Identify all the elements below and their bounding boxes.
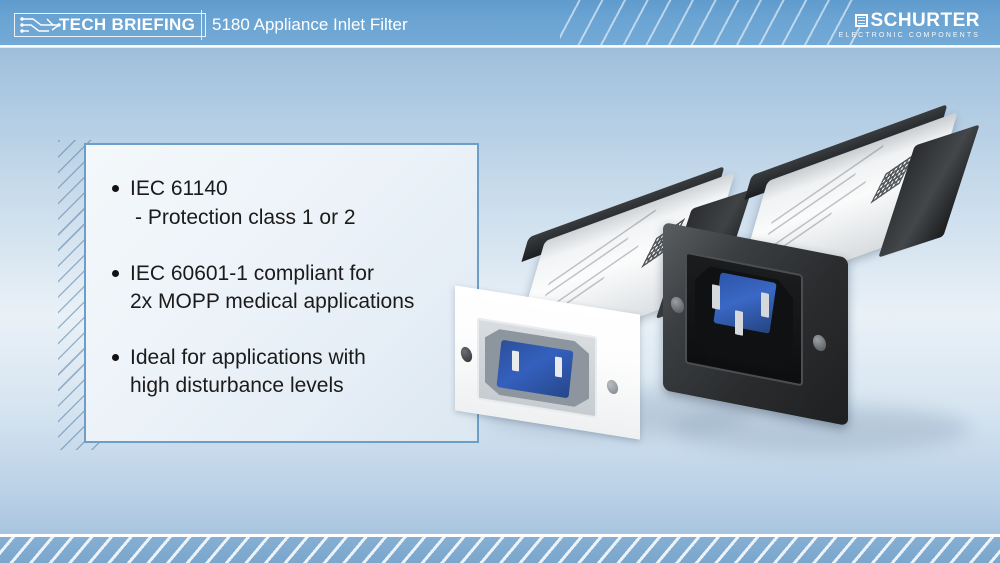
logo-tagline: ELECTRONIC COMPONENTS	[839, 32, 980, 39]
footer-hatch-band	[0, 537, 1000, 563]
header-subtitle: 5180 Appliance Inlet Filter	[212, 14, 408, 36]
list-item: IEC 60601-1 compliant for 2x MOPP medica…	[110, 260, 477, 316]
header-underline	[0, 45, 1000, 48]
schurter-logo: SCHURTER ELECTRONIC COMPONENTS	[839, 11, 980, 39]
header-divider	[201, 10, 202, 40]
bullet-text-box: IEC 61140 - Protection class 1 or 2 IEC …	[84, 143, 479, 443]
header-diagonal-pattern	[560, 0, 860, 48]
list-item: IEC 61140 - Protection class 1 or 2	[110, 175, 477, 232]
schurter-square-mark-icon	[855, 14, 868, 27]
bullet-text: IEC 61140	[130, 177, 228, 200]
list-item: Ideal for applications with high disturb…	[110, 344, 477, 400]
bullet-list: IEC 61140 - Protection class 1 or 2 IEC …	[86, 145, 477, 400]
product-photo-group	[440, 120, 1000, 450]
bullet-text-line2: 2x MOPP medical applications	[130, 288, 477, 316]
tech-briefing-badge: TECH BRIEFING	[14, 13, 206, 37]
bullet-subtext: - Protection class 1 or 2	[130, 204, 477, 232]
logo-mark-row: SCHURTER	[839, 11, 980, 30]
slide-header: TECH BRIEFING 5180 Appliance Inlet Filte…	[0, 0, 1000, 48]
black-appliance-inlet-filter	[655, 145, 1000, 445]
circuit-trace-icon	[19, 15, 63, 35]
logo-wordmark: SCHURTER	[870, 11, 980, 30]
bullet-text: Ideal for applications with	[130, 346, 366, 369]
bullet-text-line2: high disturbance levels	[130, 372, 477, 400]
tech-briefing-label: TECH BRIEFING	[59, 15, 195, 35]
bullet-text: IEC 60601-1 compliant for	[130, 262, 374, 285]
slide-canvas: TECH BRIEFING 5180 Appliance Inlet Filte…	[0, 0, 1000, 563]
